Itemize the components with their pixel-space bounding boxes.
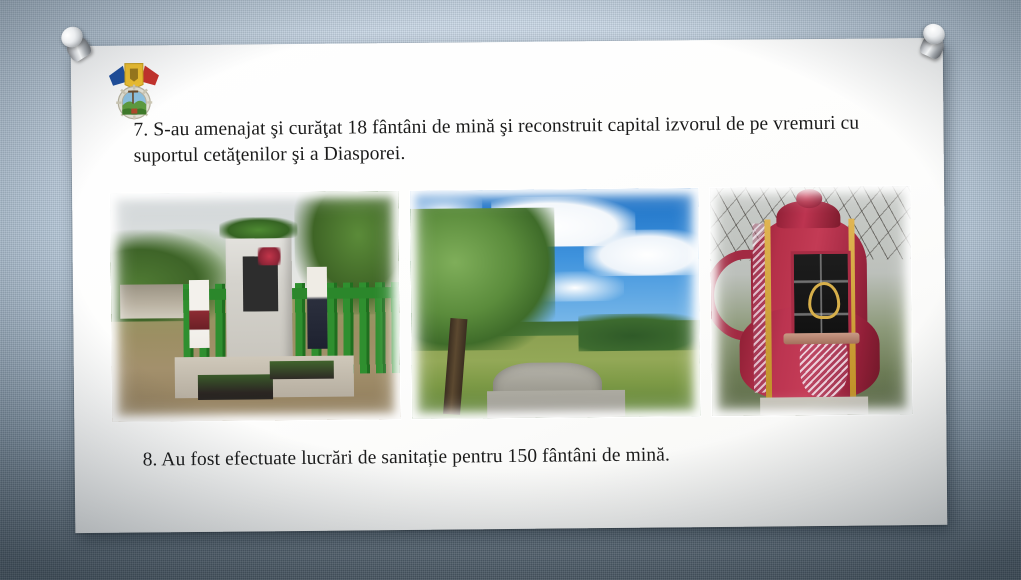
photo-spring-landscape: [410, 188, 700, 419]
p1-boy-in-costume: [307, 267, 328, 349]
flag-red-icon: [141, 65, 159, 85]
p2-bushes: [578, 313, 700, 351]
pushpin-right[interactable]: [915, 22, 961, 68]
p1-flower-bed-1: [198, 375, 273, 401]
p3-concrete-plinth: [760, 396, 868, 415]
p3-window-shelf: [783, 333, 859, 345]
photo-jug-shaped-well: [710, 186, 912, 416]
p1-girl-in-costume: [189, 280, 210, 349]
p1-house: [120, 284, 189, 319]
paragraph-item-7: 7. S-au amenajat şi curăţat 18 fântâni d…: [133, 110, 893, 169]
p1-vine-garland: [220, 217, 298, 238]
p2-cloud-2: [583, 229, 700, 276]
moldova-emblem: [103, 51, 166, 120]
p1-flower-bed-2: [270, 360, 334, 379]
emblem-svg: [103, 51, 166, 120]
photo-strip: [110, 186, 912, 432]
p2-stone-wall: [487, 390, 625, 419]
p3-jug-lid-knob: [796, 189, 822, 207]
pushpin-left[interactable]: [56, 24, 102, 70]
p3-well-window: [791, 251, 852, 344]
p2-large-tree-canopy: [410, 208, 556, 351]
p1-flower-wreath: [257, 247, 280, 265]
flag-blue-icon: [109, 66, 127, 86]
village-seal-icon: [116, 84, 152, 119]
photo-2-content: [410, 188, 700, 419]
paragraph-item-8: 8. Au fost efectuate lucrări de sanitați…: [143, 440, 903, 473]
photo-3-content: [710, 186, 912, 416]
photo-1-content: [110, 191, 400, 422]
photo-restored-well-with-children: [110, 191, 400, 422]
slide-sheet: 7. S-au amenajat şi curăţat 18 fântâni d…: [71, 38, 948, 533]
